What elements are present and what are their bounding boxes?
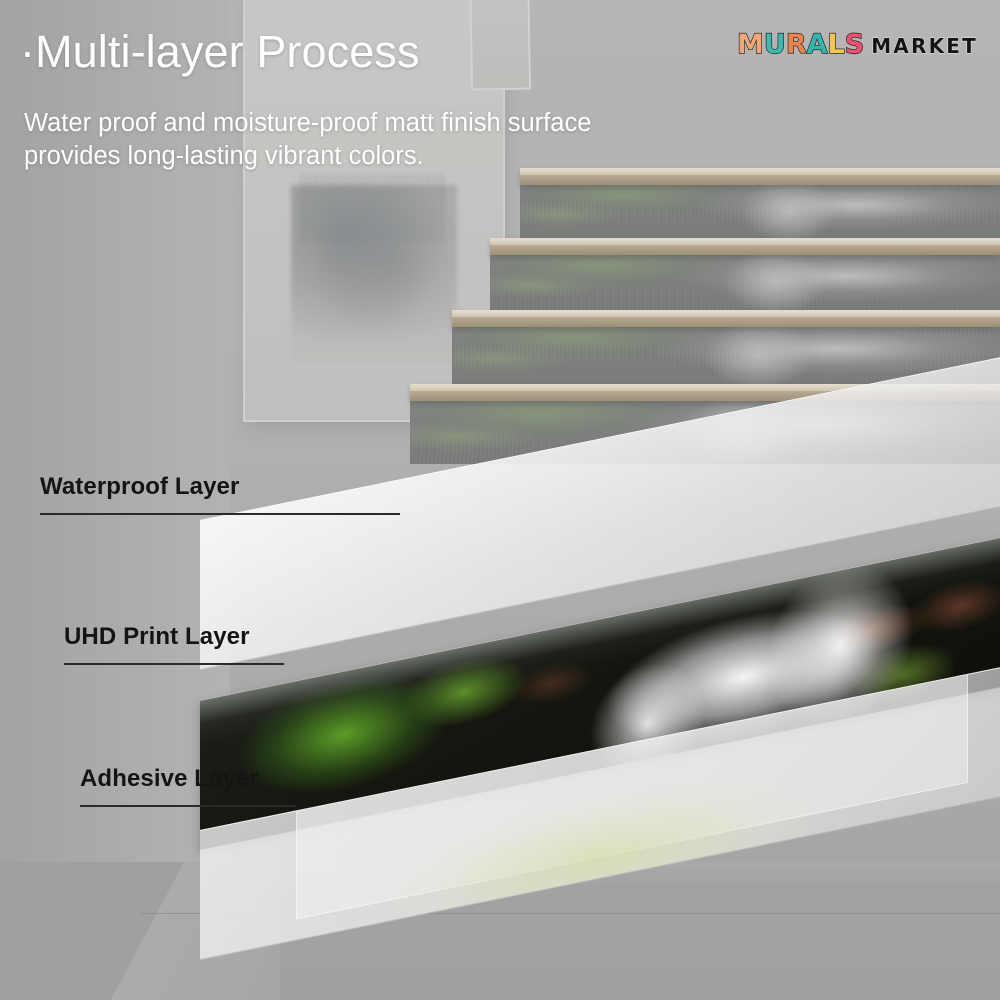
brand-logo-letter: R [786, 31, 807, 58]
layer-label-waterproof: Waterproof Layer [40, 473, 400, 515]
layer-label-waterproof-rule [40, 513, 400, 515]
brand-logo-letter: S [845, 31, 864, 58]
brand-logo-market: MARKET [871, 34, 978, 58]
brand-logo-letter: L [828, 31, 845, 58]
layer-label-waterproof-text: Waterproof Layer [40, 473, 400, 501]
layer-label-adhesive-rule [80, 805, 296, 807]
layer-label-uhd-print-text: UHD Print Layer [64, 623, 284, 651]
page-subtitle: Water proof and moisture-proof matt fini… [24, 107, 591, 172]
brand-logo[interactable]: MURALS MARKET [737, 31, 978, 58]
page-title: ·Multi-layer Process [20, 26, 420, 78]
layer-label-adhesive-text: Adhesive Layer [80, 765, 296, 793]
layer-label-uhd-print-rule [64, 663, 284, 665]
brand-logo-letter: M [737, 31, 764, 58]
layer-label-uhd-print: UHD Print Layer [64, 623, 284, 665]
layer-label-adhesive: Adhesive Layer [80, 765, 296, 807]
brand-logo-murals: MURALS [737, 31, 864, 58]
brand-logo-letter: A [807, 31, 828, 58]
brand-logo-letter: U [764, 31, 786, 58]
